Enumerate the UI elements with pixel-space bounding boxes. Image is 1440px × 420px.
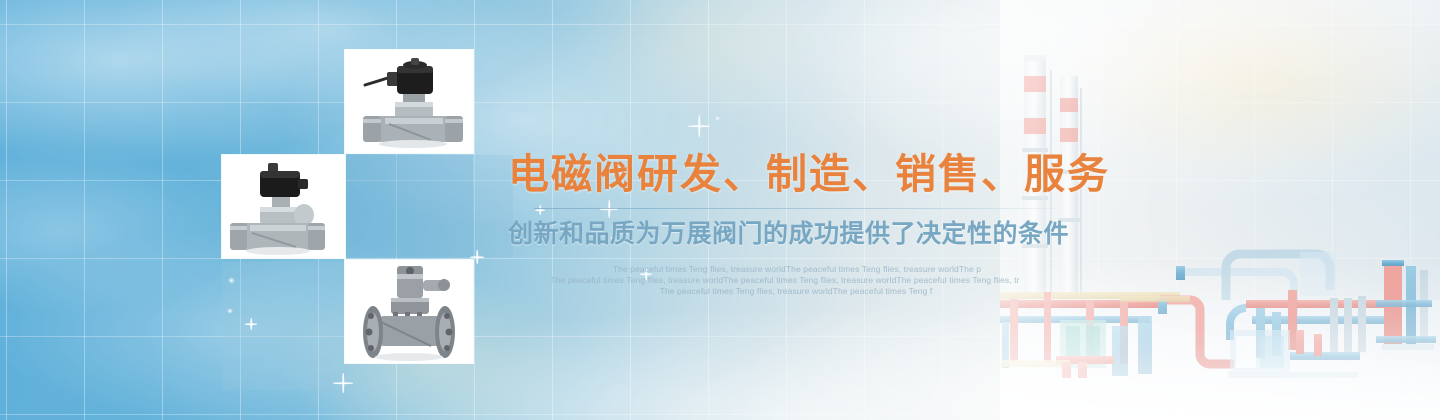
- product-thumbnail-2[interactable]: [222, 155, 345, 258]
- hero-text-block: 电磁阀研发、制造、销售、服务 创新和品质为万展阀门的成功提供了决定性的条件 Th…: [508, 150, 1108, 297]
- mosaic-tile-2: [222, 262, 344, 366]
- mosaic-tile-1: [345, 155, 473, 257]
- page-title: 电磁阀研发、制造、销售、服务: [508, 150, 1108, 198]
- product-thumbnail-3[interactable]: [345, 260, 473, 363]
- mosaic-tile-4: [222, 366, 344, 390]
- sparkle-dot-2: [228, 277, 235, 284]
- blurb-line-2: The peaceful times Teng flies, treasure …: [502, 275, 1068, 286]
- sparkle-4: [333, 373, 353, 393]
- product-thumbnail-1[interactable]: [345, 50, 473, 153]
- title-divider: [534, 208, 1058, 209]
- sparkle-7: [245, 318, 257, 330]
- sparkle-3: [688, 115, 710, 137]
- page-subtitle: 创新和品质为万展阀门的成功提供了决定性的条件: [508, 218, 1108, 249]
- blurb-line-1: The peaceful times Teng flies, treasure …: [526, 264, 1068, 275]
- sparkle-dot-1: [715, 116, 720, 121]
- mosaic-tile-3: [473, 155, 513, 257]
- blurb-line-3: The peaceful times Teng flies, treasure …: [524, 286, 1068, 297]
- sparkle-dot-3: [227, 308, 233, 314]
- blurb-group: The peaceful times Teng flies, treasure …: [508, 264, 1068, 297]
- hero-banner: 电磁阀研发、制造、销售、服务 创新和品质为万展阀门的成功提供了决定性的条件 Th…: [0, 0, 1440, 420]
